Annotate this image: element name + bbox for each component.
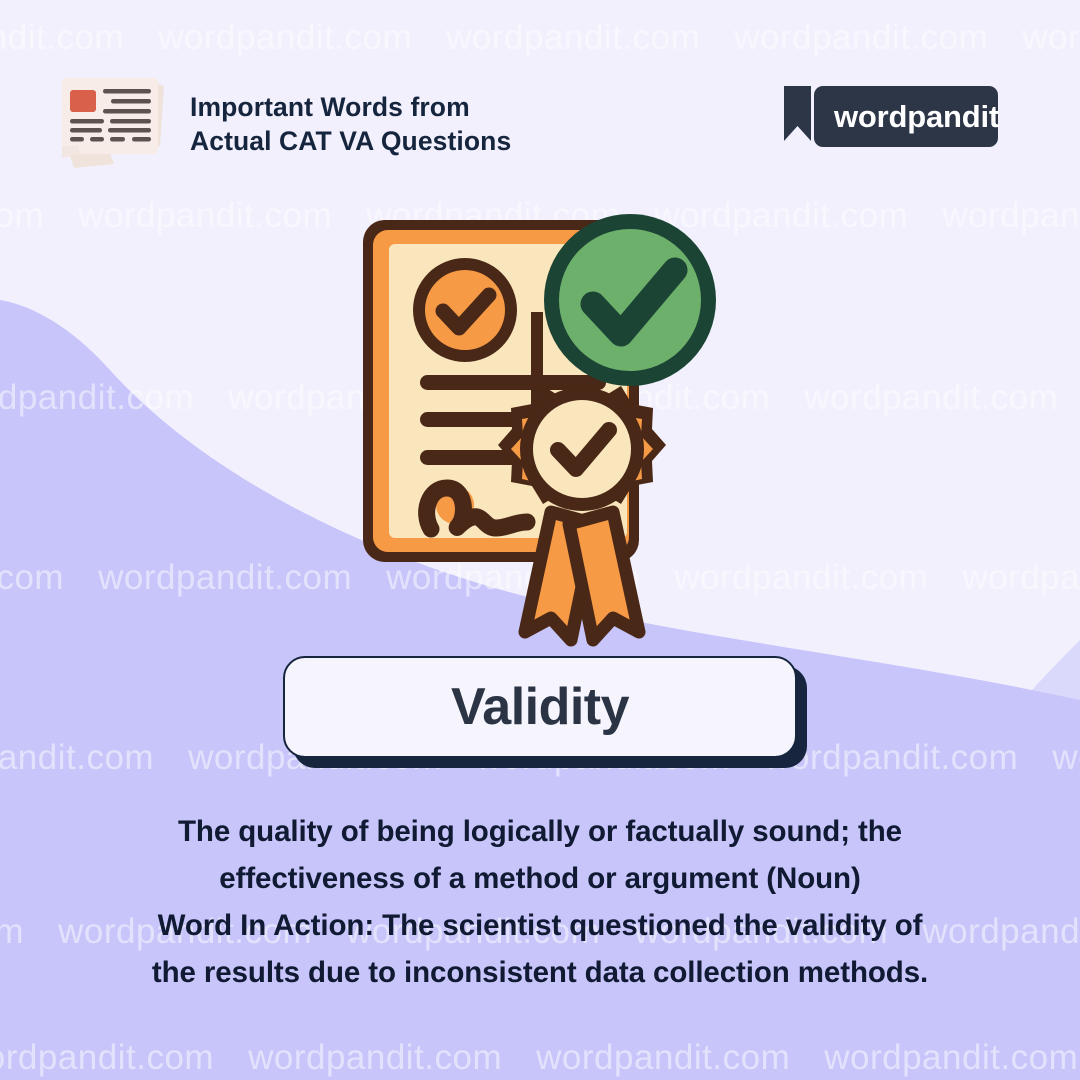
definition-block: The quality of being logically or factua… (40, 808, 1040, 996)
brand-logo[interactable]: wordpandit (778, 84, 1000, 149)
brand-name: wordpandit (834, 99, 999, 135)
green-check-badge-icon (544, 214, 716, 386)
newspaper-icon (56, 72, 174, 172)
header-title: Important Words from Actual CAT VA Quest… (190, 90, 511, 159)
word-card-graphic: wordpandit.comwordpandit.comwordpandit.c… (0, 0, 1080, 1080)
definition-action-line2: the results due to inconsistent data col… (40, 949, 1040, 996)
word-card-body[interactable]: Validity (283, 656, 797, 758)
definition-meaning-line1: The quality of being logically or factua… (40, 808, 1040, 855)
header-title-line1: Important Words from (190, 90, 511, 124)
certificate-illustration (355, 212, 805, 652)
header: Important Words from Actual CAT VA Quest… (0, 0, 1080, 190)
definition-meaning-line2: effectiveness of a method or argument (N… (40, 855, 1040, 902)
definition-action-line1: Word In Action: The scientist questioned… (40, 902, 1040, 949)
word-card[interactable]: Validity (283, 656, 807, 768)
rosette-ribbon-tails (525, 512, 639, 640)
word-title: Validity (451, 677, 629, 737)
header-title-line2: Actual CAT VA Questions (190, 124, 511, 158)
orange-check-seal-icon (413, 258, 517, 362)
